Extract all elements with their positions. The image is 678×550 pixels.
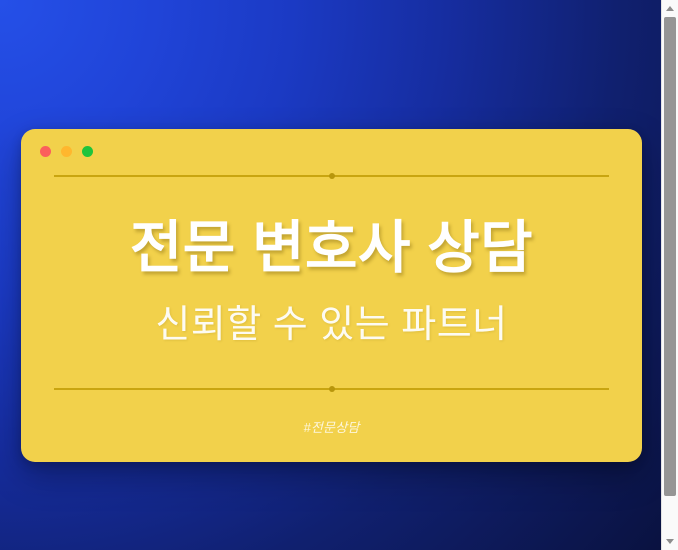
triangle-down-icon xyxy=(666,539,674,544)
slide-stage: 전문 변호사 상담 신뢰할 수 있는 파트너 #전문상담 xyxy=(0,0,661,550)
divider-center-dot-icon xyxy=(329,173,335,179)
close-dot-icon[interactable] xyxy=(40,146,51,157)
divider-top xyxy=(54,175,609,177)
scroll-up-arrow-icon[interactable] xyxy=(662,0,678,17)
maximize-dot-icon[interactable] xyxy=(82,146,93,157)
promo-card: 전문 변호사 상담 신뢰할 수 있는 파트너 #전문상담 xyxy=(21,129,642,462)
hashtag-row: #전문상담 xyxy=(54,390,609,462)
hashtag-label: #전문상담 xyxy=(303,417,359,436)
scrollbar-thumb[interactable] xyxy=(664,17,676,496)
divider-bottom xyxy=(54,388,609,390)
scroll-down-arrow-icon[interactable] xyxy=(662,533,678,550)
card-content: 전문 변호사 상담 신뢰할 수 있는 파트너 #전문상담 xyxy=(21,175,642,462)
headline-block: 전문 변호사 상담 신뢰할 수 있는 파트너 xyxy=(54,177,609,388)
scrollbar-track[interactable] xyxy=(662,17,678,533)
vertical-scrollbar[interactable] xyxy=(661,0,678,550)
window-controls xyxy=(40,146,93,157)
triangle-up-icon xyxy=(666,6,674,11)
divider-center-dot-icon xyxy=(329,386,335,392)
page-title: 전문 변호사 상담 xyxy=(130,215,533,282)
page-subtitle: 신뢰할 수 있는 파트너 xyxy=(155,302,507,350)
screenshot-viewport: 전문 변호사 상담 신뢰할 수 있는 파트너 #전문상담 xyxy=(0,0,678,550)
minimize-dot-icon[interactable] xyxy=(61,146,72,157)
